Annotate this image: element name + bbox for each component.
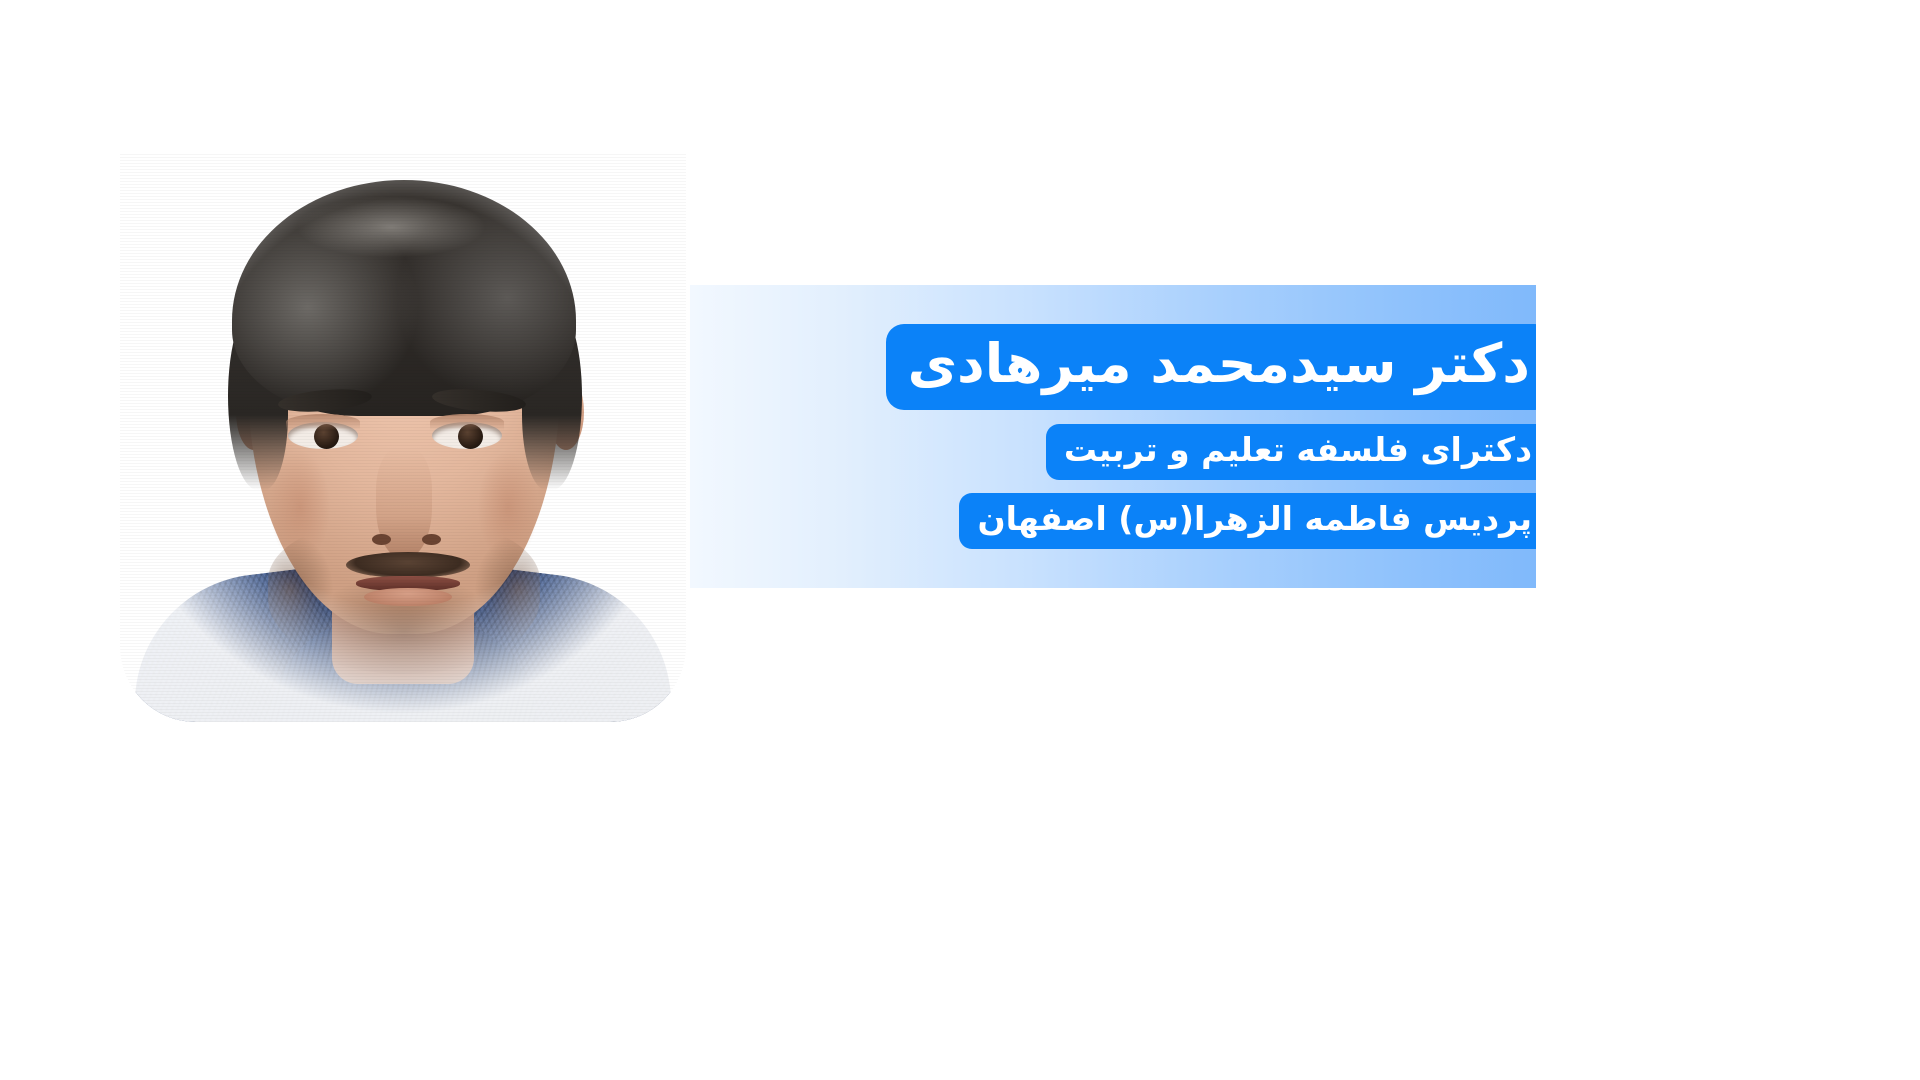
moustache <box>346 552 470 578</box>
portrait-frame <box>120 152 686 722</box>
degree-badge: دکترای فلسفه تعلیم و تربیت <box>1046 424 1536 480</box>
name-title-badge-stack: دکتر سیدمحمد میرهادی دکترای فلسفه تعلیم … <box>690 285 1536 588</box>
eyelid-left <box>286 414 360 430</box>
banner-content: دکتر سیدمحمد میرهادی دکترای فلسفه تعلیم … <box>0 0 1536 886</box>
campus-badge: پردیس فاطمه الزهرا(س) اصفهان <box>959 493 1536 549</box>
nostril-right <box>422 534 441 545</box>
eyelid-right <box>430 414 504 430</box>
portrait-photo <box>120 152 686 722</box>
banner-stage: دکتر سیدمحمد میرهادی دکترای فلسفه تعلیم … <box>0 0 1920 1080</box>
hair-highlight <box>296 196 486 258</box>
person-name-badge: دکتر سیدمحمد میرهادی <box>886 324 1536 410</box>
lower-lip <box>364 588 452 606</box>
nostril-left <box>372 534 391 545</box>
